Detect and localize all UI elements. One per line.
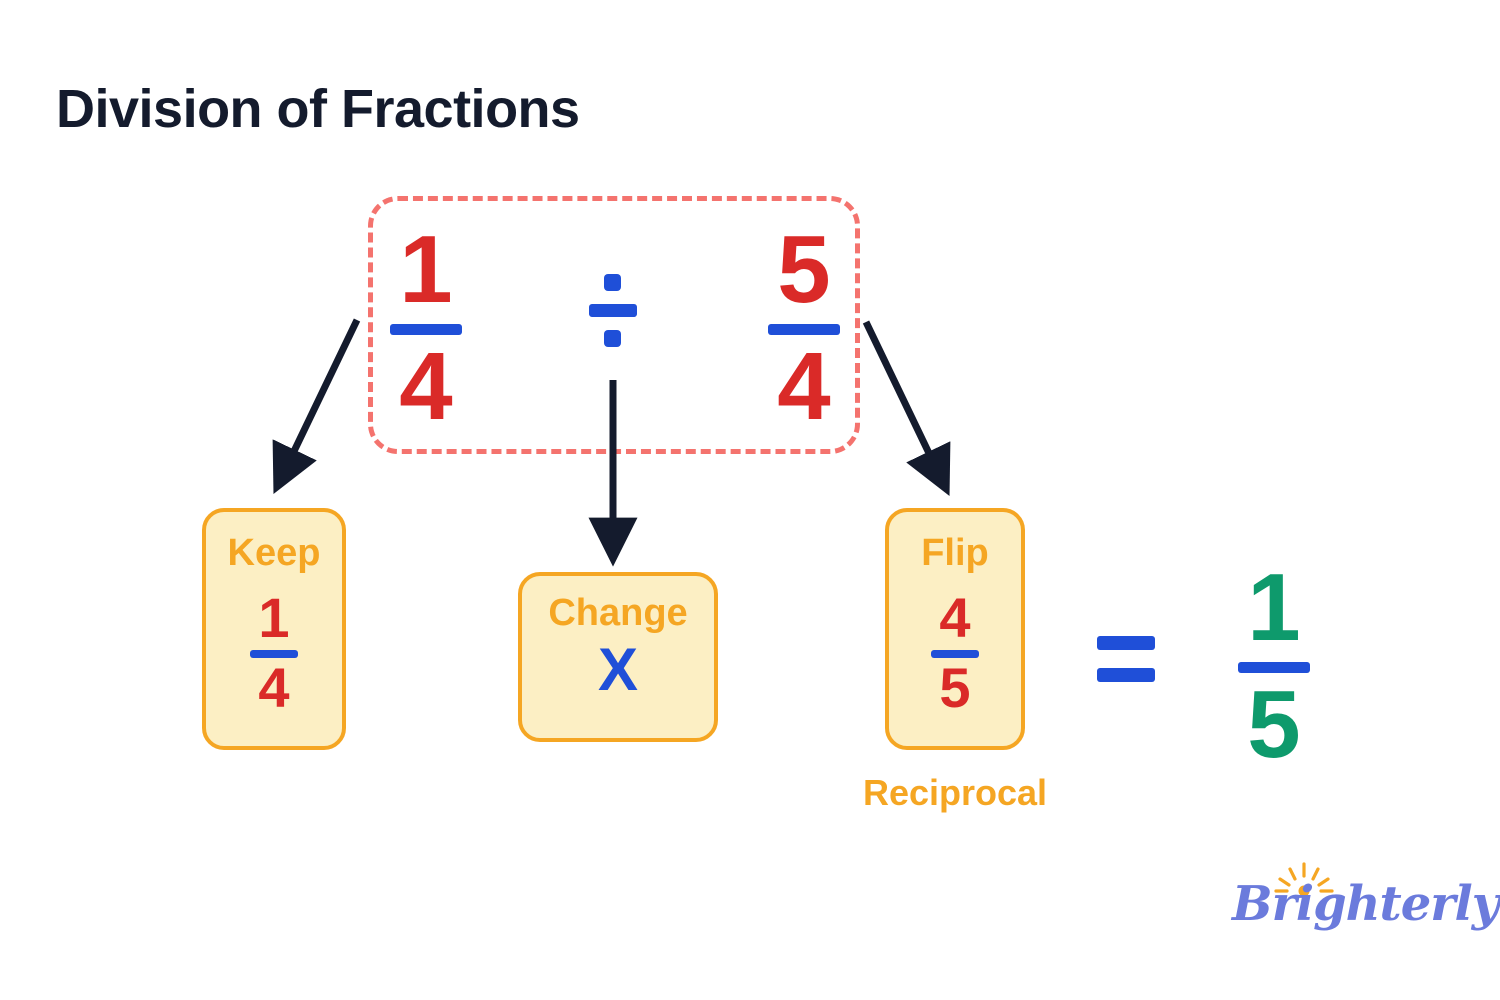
flip-denominator: 5 bbox=[939, 660, 970, 716]
expression-right-fraction: 5 4 bbox=[768, 222, 840, 435]
keep-numerator: 1 bbox=[258, 590, 289, 646]
change-label: Change bbox=[548, 594, 687, 632]
right-fraction-numerator: 5 bbox=[777, 222, 830, 318]
brand-name: Brighterly bbox=[1232, 880, 1450, 928]
right-fraction-denominator: 4 bbox=[777, 339, 830, 435]
division-sign-icon bbox=[588, 270, 638, 350]
flip-numerator: 4 bbox=[939, 590, 970, 646]
left-fraction-numerator: 1 bbox=[399, 222, 452, 318]
brand-logo[interactable]: Brighterly bbox=[1232, 862, 1450, 950]
left-fraction-denominator: 4 bbox=[399, 339, 452, 435]
equals-sign-icon bbox=[1097, 628, 1155, 690]
equals-top-bar bbox=[1097, 636, 1155, 650]
reciprocal-caption: Reciprocal bbox=[828, 772, 1082, 814]
flip-fraction: 4 5 bbox=[931, 590, 979, 716]
step-card-keep[interactable]: Keep 1 4 bbox=[202, 508, 346, 750]
result-numerator: 1 bbox=[1247, 560, 1300, 656]
diagram-canvas: Division of Fractions 1 4 5 4 Keep 1 4 bbox=[0, 0, 1500, 1000]
division-sign-bar bbox=[589, 304, 637, 317]
flip-label: Flip bbox=[921, 534, 989, 572]
arrow-to-keep bbox=[285, 320, 357, 470]
keep-fraction: 1 4 bbox=[250, 590, 298, 716]
result-denominator: 5 bbox=[1247, 677, 1300, 773]
division-sign-bottom-dot bbox=[604, 330, 621, 347]
division-sign-top-dot bbox=[604, 274, 621, 291]
step-card-change[interactable]: Change X bbox=[518, 572, 718, 742]
step-card-flip[interactable]: Flip 4 5 bbox=[885, 508, 1025, 750]
keep-label: Keep bbox=[228, 534, 321, 572]
arrow-layer bbox=[0, 0, 1500, 1000]
result-fraction: 1 5 bbox=[1238, 560, 1310, 773]
multiplication-sign-icon: X bbox=[598, 640, 638, 700]
equals-bottom-bar bbox=[1097, 668, 1155, 682]
keep-denominator: 4 bbox=[258, 660, 289, 716]
page-title: Division of Fractions bbox=[56, 78, 580, 140]
expression-left-fraction: 1 4 bbox=[390, 222, 462, 435]
arrow-to-flip bbox=[866, 322, 938, 472]
